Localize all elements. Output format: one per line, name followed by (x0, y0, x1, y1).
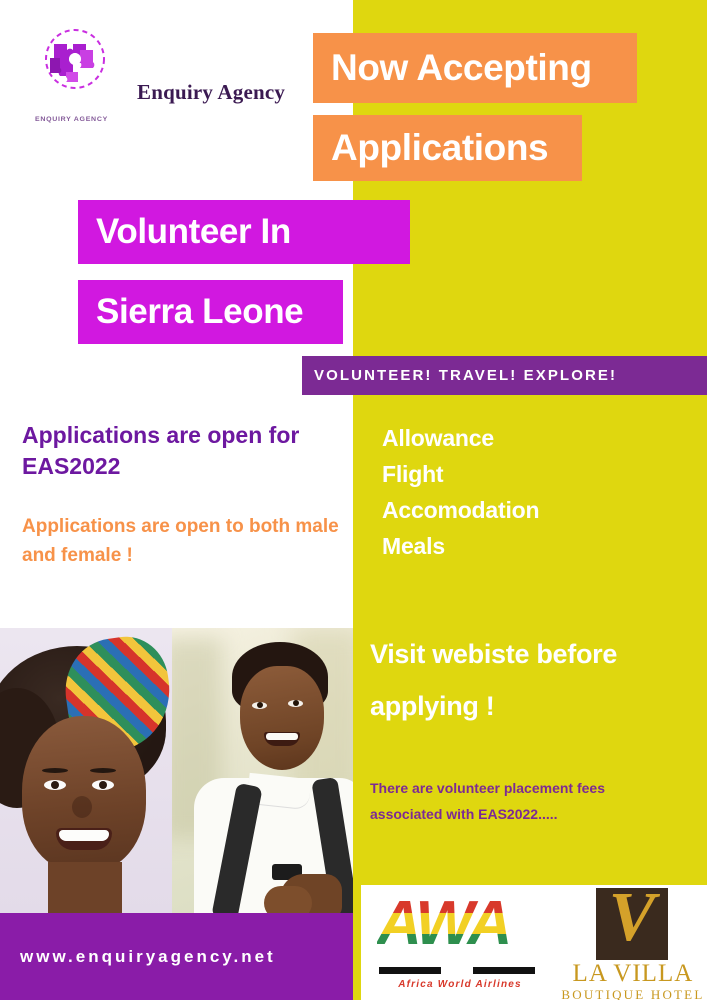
tagline-ribbon: VOLUNTEER! TRAVEL! EXPLORE! (302, 356, 707, 395)
benefit-item: Flight (382, 456, 682, 492)
banner-volunteer-in: Volunteer In (78, 200, 410, 264)
banner-sierra-leone: Sierra Leone (78, 280, 343, 344)
poster-canvas: Enquiry Agency ENQUIRY AGENCY Now Accept… (0, 0, 707, 1000)
applications-open-headline: Applications are open for EAS2022 (22, 420, 342, 482)
awa-tagline: Africa World Airlines (377, 979, 543, 990)
website-url[interactable]: www.enquiryagency.net (0, 947, 276, 967)
photo-man (172, 628, 353, 913)
puzzle-sphere-icon (38, 28, 112, 90)
awa-wordmark: AWA (377, 899, 539, 961)
banner-now-accepting-label: Now Accepting (313, 47, 592, 89)
photo-woman-mouth (56, 828, 112, 850)
gender-eligibility-note: Applications are open to both male and f… (22, 512, 342, 570)
sponsor-strip: AWA Africa World Airlines V LA VILLA BOU… (361, 885, 707, 1000)
photo-strip (0, 628, 353, 913)
photo-woman (0, 628, 172, 913)
banner-sierra-leone-label: Sierra Leone (78, 292, 303, 332)
photo-man-eye-right (288, 700, 303, 707)
photo-man-mouth (264, 732, 300, 746)
lavilla-name: LA VILLA (558, 960, 707, 988)
brand-caption: ENQUIRY AGENCY (35, 117, 108, 123)
photo-man-hand-second (264, 886, 312, 913)
banner-now-accepting: Now Accepting (313, 33, 637, 103)
banner-applications-label: Applications (313, 127, 548, 169)
placement-fees-note: There are volunteer placement fees assoc… (370, 775, 680, 827)
photo-woman-brow-left (42, 768, 68, 773)
photo-man-eye-left (252, 702, 267, 709)
awa-wordmark-text: AWA (377, 899, 539, 955)
photo-woman-eye-left (44, 780, 66, 790)
awa-rule-right (473, 967, 535, 974)
brand-name: Enquiry Agency (137, 80, 285, 105)
lavilla-logo: V LA VILLA BOUTIQUE HOTEL (558, 888, 707, 1000)
photo-man-face (240, 666, 324, 770)
banner-volunteer-in-label: Volunteer In (78, 212, 291, 252)
photo-man-teeth (266, 733, 298, 740)
website-footer-bar[interactable]: www.enquiryagency.net (0, 913, 353, 1000)
lavilla-subtitle: BOUTIQUE HOTEL (558, 987, 707, 1000)
banner-applications: Applications (313, 115, 582, 181)
benefit-item: Meals (382, 528, 682, 564)
benefit-item: Allowance (382, 420, 682, 456)
photo-woman-brow-right (90, 768, 116, 773)
benefits-list: Allowance Flight Accomodation Meals (382, 420, 682, 564)
lavilla-monogram-tile: V (596, 888, 668, 960)
photo-woman-neck (48, 862, 122, 913)
lavilla-monogram: V (596, 888, 668, 960)
awa-logo: AWA Africa World Airlines (369, 895, 544, 1000)
photo-woman-nose (72, 796, 92, 818)
brand-logo[interactable]: Enquiry Agency ENQUIRY AGENCY (33, 28, 323, 108)
tagline-ribbon-label: VOLUNTEER! TRAVEL! EXPLORE! (302, 367, 617, 384)
awa-rule-left (379, 967, 441, 974)
photo-woman-teeth (59, 830, 109, 841)
benefit-item: Accomodation (382, 492, 682, 528)
visit-website-callout: Visit webiste before applying ! (370, 628, 670, 732)
photo-woman-eye-right (92, 780, 114, 790)
